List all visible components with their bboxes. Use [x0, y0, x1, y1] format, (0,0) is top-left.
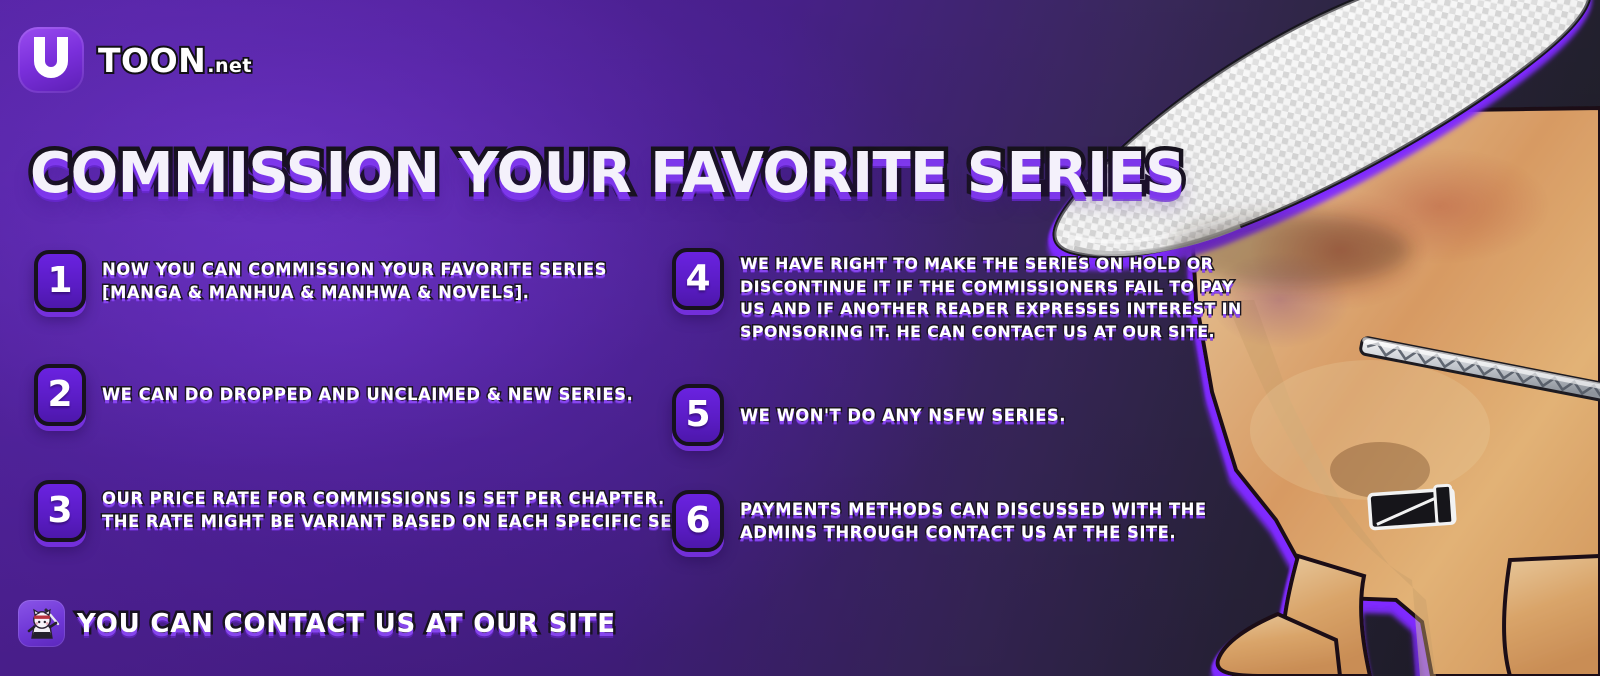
- toon-crescent-logo-icon: [18, 27, 84, 93]
- item-text: WE WON'T DO ANY NSFW SERIES.: [740, 384, 1066, 428]
- list-item: 4 WE HAVE RIGHT TO MAKE THE SERIES ON HO…: [672, 248, 1232, 344]
- item-number: 2: [47, 377, 72, 413]
- item-line: SPONSORING IT. HE CAN CONTACT US AT OUR …: [740, 321, 1242, 344]
- item-number: 3: [47, 493, 72, 529]
- item-number-badge: 5: [672, 384, 724, 446]
- list-item: 2 WE CAN DO DROPPED AND UNCLAIMED & NEW …: [34, 364, 684, 426]
- site-logo[interactable]: TOON.net: [18, 27, 252, 93]
- item-line: PAYMENTS METHODS CAN DISCUSSED WITH THE: [740, 499, 1207, 522]
- contact-footer[interactable]: YOU CAN CONTACT US AT OUR SITE: [18, 600, 616, 647]
- item-number-badge: 2: [34, 364, 86, 426]
- item-number: 6: [685, 503, 710, 539]
- item-line: WE HAVE RIGHT TO MAKE THE SERIES ON HOLD…: [740, 253, 1242, 276]
- logo-wordmark: TOON.net: [98, 44, 252, 77]
- page-title: COMMISSION YOUR FAVORITE SERIES: [30, 146, 1185, 202]
- item-line: NOW YOU CAN COMMISSION YOUR FAVORITE SER…: [102, 259, 607, 282]
- item-number: 5: [685, 397, 710, 433]
- item-line: [MANGA & MANHUA & MANHWA & NOVELS].: [102, 282, 607, 305]
- item-line: ADMINS THROUGH CONTACT US AT THE SITE.: [740, 522, 1207, 545]
- item-text: PAYMENTS METHODS CAN DISCUSSED WITH THE …: [740, 490, 1207, 545]
- list-item: 6 PAYMENTS METHODS CAN DISCUSSED WITH TH…: [672, 490, 1232, 552]
- terms-column-left: 1 NOW YOU CAN COMMISSION YOUR FAVORITE S…: [34, 250, 684, 542]
- commission-banner: TOON.net COMMISSION YOUR FAVORITE SERIES…: [0, 0, 1600, 676]
- item-line: WE WON'T DO ANY NSFW SERIES.: [740, 405, 1066, 428]
- samurai-cat-mascot-icon: [18, 600, 65, 647]
- item-number-badge: 3: [34, 480, 86, 542]
- list-item: 1 NOW YOU CAN COMMISSION YOUR FAVORITE S…: [34, 250, 684, 312]
- terms-column-right: 4 WE HAVE RIGHT TO MAKE THE SERIES ON HO…: [672, 248, 1232, 552]
- item-number: 1: [47, 263, 72, 299]
- item-line: THE RATE MIGHT BE VARIANT BASED ON EACH …: [102, 511, 723, 534]
- item-text: NOW YOU CAN COMMISSION YOUR FAVORITE SER…: [102, 250, 607, 305]
- list-item: 5 WE WON'T DO ANY NSFW SERIES.: [672, 384, 1232, 446]
- logo-name: TOON: [98, 44, 206, 77]
- item-text: WE CAN DO DROPPED AND UNCLAIMED & NEW SE…: [102, 364, 633, 407]
- item-text: WE HAVE RIGHT TO MAKE THE SERIES ON HOLD…: [740, 248, 1242, 344]
- item-text: OUR PRICE RATE FOR COMMISSIONS IS SET PE…: [102, 480, 723, 534]
- item-line: US AND IF ANOTHER READER EXPRESSES INTER…: [740, 298, 1242, 321]
- item-line: DISCONTINUE IT IF THE COMMISSIONERS FAIL…: [740, 276, 1242, 299]
- item-number: 4: [685, 261, 710, 297]
- item-number-badge: 1: [34, 250, 86, 312]
- item-number-badge: 6: [672, 490, 724, 552]
- list-item: 3 OUR PRICE RATE FOR COMMISSIONS IS SET …: [34, 480, 684, 542]
- logo-tld: .net: [207, 57, 252, 76]
- item-number-badge: 4: [672, 248, 724, 310]
- item-line: OUR PRICE RATE FOR COMMISSIONS IS SET PE…: [102, 488, 723, 511]
- contact-footer-label: YOU CAN CONTACT US AT OUR SITE: [77, 609, 616, 639]
- item-line: WE CAN DO DROPPED AND UNCLAIMED & NEW SE…: [102, 384, 633, 407]
